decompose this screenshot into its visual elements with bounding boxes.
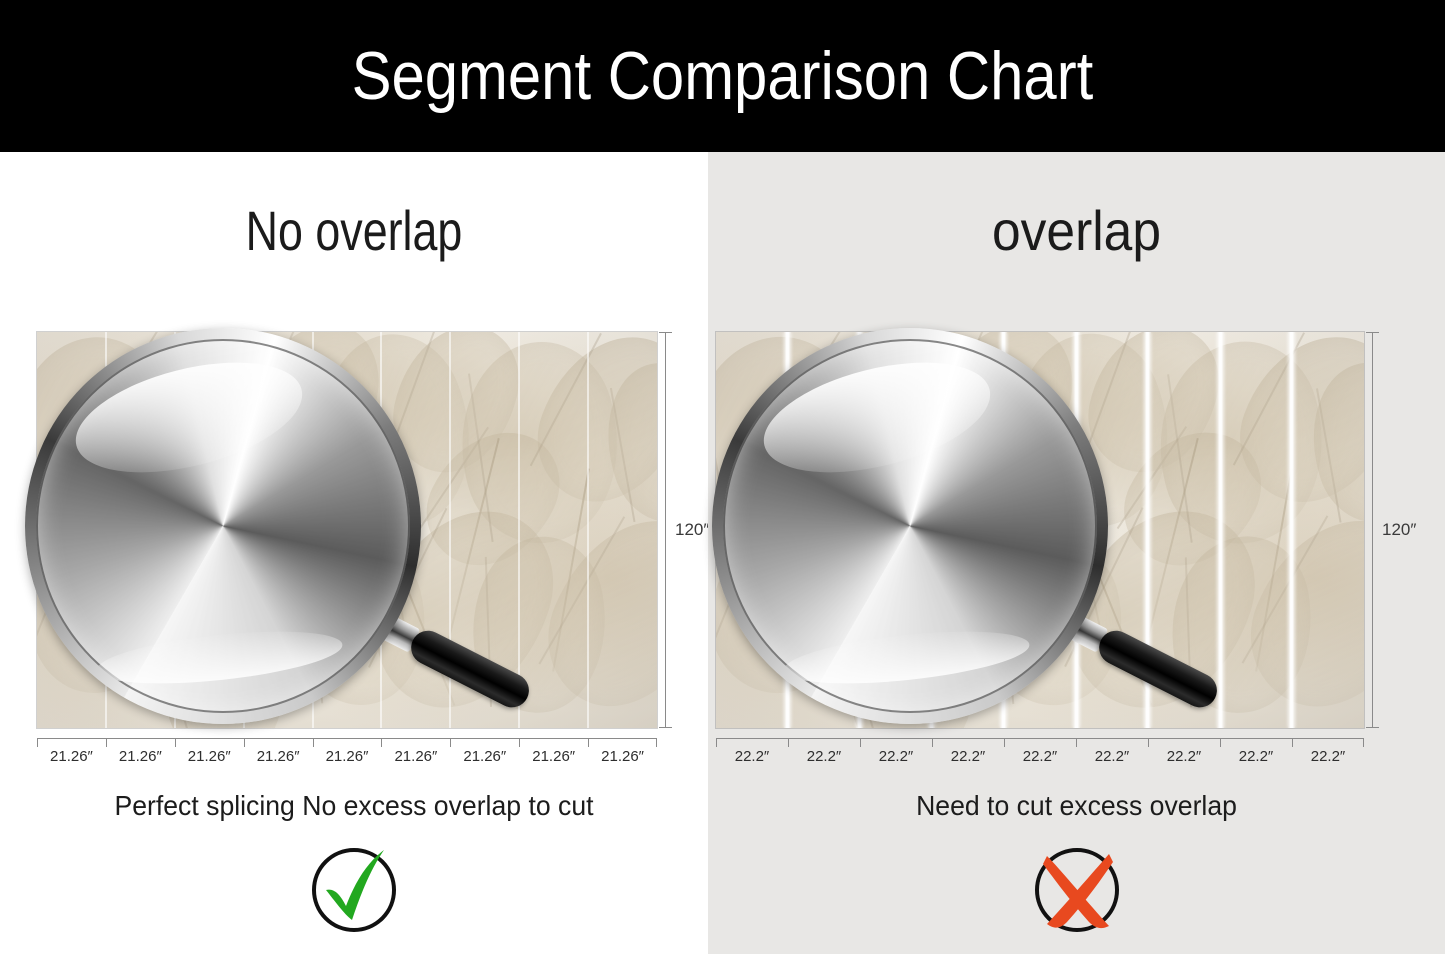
dimension-tick	[1076, 738, 1077, 747]
dimension-tick	[716, 738, 717, 747]
caption-overlap: Need to cut excess overlap	[726, 790, 1426, 822]
mural-figure-overlap: 120″ 22.2″22.2″22.2″22.2″22.2″22.2″22.2″…	[716, 332, 1364, 728]
page-title: Segment Comparison Chart	[352, 37, 1094, 115]
panel-seam	[449, 332, 451, 728]
dimension-cap-bottom	[1366, 727, 1379, 728]
panel-seam	[784, 332, 791, 728]
dimension-ticks	[716, 738, 1364, 747]
dimension-tick	[1004, 738, 1005, 747]
dimension-tick	[106, 738, 107, 747]
height-label-overlap: 120″	[1382, 520, 1416, 540]
dimension-tick	[1220, 738, 1221, 747]
segment-label-row-overlap: 22.2″22.2″22.2″22.2″22.2″22.2″22.2″22.2″…	[716, 748, 1364, 765]
dimension-line	[1372, 332, 1373, 728]
dimension-tick	[450, 738, 451, 747]
segment-width-label: 21.26″	[175, 748, 244, 765]
dimension-tick	[1292, 738, 1293, 747]
panels-container: No overlap 120″ 21.26″21.26″21.26″21.26″…	[0, 152, 1445, 954]
dimension-line	[665, 332, 666, 728]
dimension-tick	[1148, 738, 1149, 747]
mural-image-no-overlap	[37, 332, 657, 728]
segment-width-label: 22.2″	[932, 748, 1004, 765]
segment-width-label: 21.26″	[313, 748, 382, 765]
mural-image-overlap	[716, 332, 1364, 728]
height-label-no-overlap: 120″	[675, 520, 709, 540]
verdict-overlap	[708, 840, 1445, 936]
segment-width-label: 22.2″	[860, 748, 932, 765]
segment-width-label: 21.26″	[244, 748, 313, 765]
dimension-tick	[860, 738, 861, 747]
segment-width-label: 22.2″	[1076, 748, 1148, 765]
segment-width-label: 22.2″	[716, 748, 788, 765]
panel-seam	[243, 332, 245, 728]
segment-width-label: 22.2″	[1220, 748, 1292, 765]
segment-width-label: 21.26″	[450, 748, 519, 765]
comparison-chart-root: Segment Comparison Chart No overlap 120″	[0, 0, 1445, 954]
title-bar: Segment Comparison Chart	[0, 0, 1445, 152]
dimension-tick	[932, 738, 933, 747]
dimension-tick	[1363, 738, 1364, 747]
panel-overlap: overlap 120″ 22.2″22.2″22.2″22.2″22.2″22…	[708, 152, 1445, 954]
panel-seam	[928, 332, 935, 728]
segment-width-label: 22.2″	[1292, 748, 1364, 765]
panel-seam	[380, 332, 382, 728]
dimension-tick	[313, 738, 314, 747]
segment-width-label: 22.2″	[1148, 748, 1220, 765]
dimension-tick	[37, 738, 38, 747]
panel-no-overlap: No overlap 120″ 21.26″21.26″21.26″21.26″…	[0, 152, 708, 954]
panel-seam	[105, 332, 107, 728]
panel-seam	[587, 332, 589, 728]
panel-seam	[856, 332, 863, 728]
mural-figure-no-overlap: 120″ 21.26″21.26″21.26″21.26″21.26″21.26…	[37, 332, 657, 728]
mural-vignette	[716, 332, 1364, 728]
panel-seam	[1288, 332, 1295, 728]
check-mark-icon	[306, 840, 402, 936]
dimension-ticks	[37, 738, 657, 747]
segment-width-label: 22.2″	[1004, 748, 1076, 765]
segment-width-label: 21.26″	[381, 748, 450, 765]
dimension-tick	[788, 738, 789, 747]
panel-heading-no-overlap: No overlap	[71, 198, 637, 263]
segment-width-label: 21.26″	[519, 748, 588, 765]
panel-seam	[518, 332, 520, 728]
cross-mark-icon	[1029, 840, 1125, 936]
verdict-no-overlap	[0, 840, 708, 936]
panel-seam	[1000, 332, 1007, 728]
panel-seam	[1073, 332, 1080, 728]
dimension-tick	[656, 738, 657, 747]
dimension-tick	[519, 738, 520, 747]
panel-seam	[1144, 332, 1151, 728]
dimension-tick	[175, 738, 176, 747]
panel-seam	[174, 332, 176, 728]
caption-no-overlap: Perfect splicing No excess overlap to cu…	[18, 790, 691, 822]
dimension-tick	[588, 738, 589, 747]
panel-heading-overlap: overlap	[737, 198, 1415, 263]
dimension-tick	[244, 738, 245, 747]
segment-width-label: 21.26″	[37, 748, 106, 765]
segment-width-label: 22.2″	[788, 748, 860, 765]
segment-label-row-no-overlap: 21.26″21.26″21.26″21.26″21.26″21.26″21.2…	[37, 748, 657, 765]
dimension-tick	[381, 738, 382, 747]
panel-seam	[312, 332, 314, 728]
segment-width-label: 21.26″	[106, 748, 175, 765]
segment-width-label: 21.26″	[588, 748, 657, 765]
dimension-cap-bottom	[659, 727, 672, 728]
panel-seam	[1217, 332, 1224, 728]
